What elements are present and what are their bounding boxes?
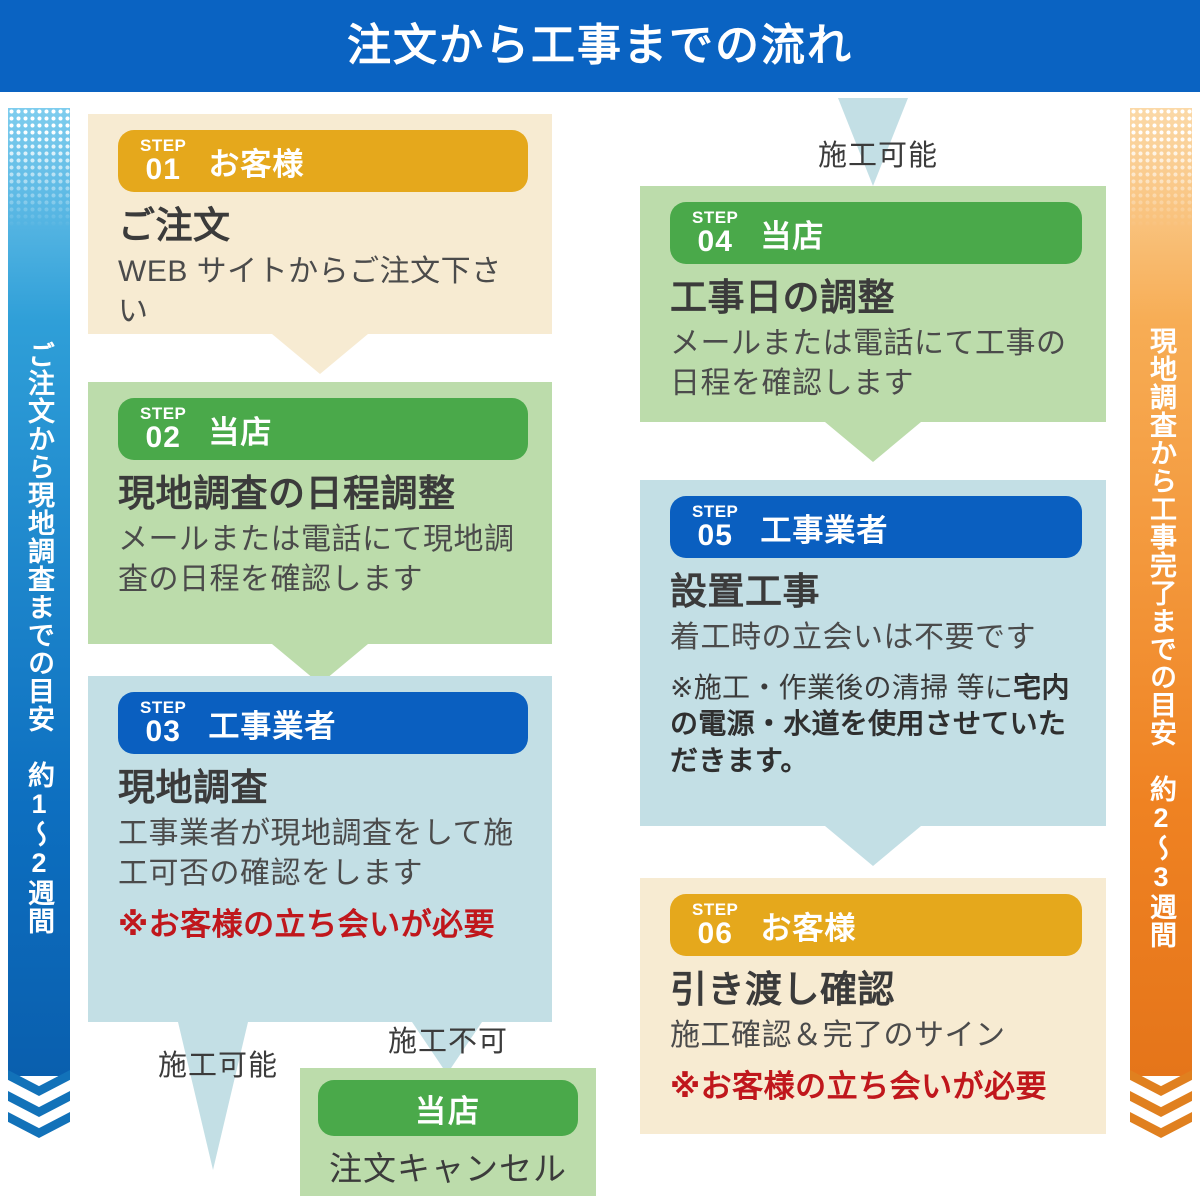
left-rail-label: ご注文から現地調査までの目安 約1〜2週間	[8, 238, 70, 1038]
order-cancel-card: 当店 注文キャンセル	[300, 1068, 596, 1196]
step-title: 引き渡し確認	[670, 968, 1082, 1012]
step-number: 05	[698, 521, 733, 551]
left-rail-halftone-icon	[8, 108, 70, 228]
step-actor: 工事業者	[760, 505, 888, 550]
step-card-05: STEP 05 工事業者 設置工事 着工時の立会いは不要です ※施工・作業後の清…	[640, 480, 1106, 826]
flow-arrow-04-to-05	[825, 422, 921, 462]
step-actor: 工事業者	[208, 701, 336, 746]
cancel-label: 注文キャンセル	[318, 1142, 578, 1190]
step-card-06: STEP 06 お客様 引き渡し確認 施工確認＆完了のサイン ※お客様の立ち会い…	[640, 878, 1106, 1134]
chevron-down-icon	[1130, 1070, 1192, 1096]
right-rail-halftone-icon	[1130, 108, 1192, 228]
step-number: 06	[698, 919, 733, 949]
step-word: STEP	[140, 137, 186, 154]
step-number-block: STEP 06	[692, 901, 738, 949]
step-actor: お客様	[208, 139, 304, 184]
step-body: 工事業者が現地調査をして施工可否の確認をします	[118, 814, 528, 894]
left-rail-chevrons	[8, 1070, 70, 1138]
step-number-block: STEP 05	[692, 503, 738, 551]
step-card-01: STEP 01 お客様 ご注文 WEB サイトからご注文下さい	[88, 114, 552, 334]
step-number-block: STEP 02	[140, 405, 186, 453]
step-number-block: STEP 01	[140, 137, 186, 185]
step-card-02: STEP 02 当店 現地調査の日程調整 メールまたは電話にて現地調査の日程を確…	[88, 382, 552, 644]
cancel-actor-badge: 当店	[318, 1080, 578, 1136]
right-rail-chevrons	[1130, 1070, 1192, 1138]
step-note-plain: ※施工・作業後の清掃 等に	[670, 672, 1013, 703]
step-badge-02: STEP 02 当店	[118, 398, 528, 460]
step-word: STEP	[140, 405, 186, 422]
chevron-down-icon	[8, 1070, 70, 1096]
step-badge-06: STEP 06 お客様	[670, 894, 1082, 956]
step-actor: 当店	[760, 211, 824, 256]
step-badge-05: STEP 05 工事業者	[670, 496, 1082, 558]
step-note: ※施工・作業後の清掃 等に宅内の電源・水道を使用させていただきます。	[670, 670, 1082, 779]
step-warning: ※お客様の立ち会いが必要	[118, 906, 528, 943]
step-body: 着工時の立会いは不要です	[670, 618, 1082, 658]
step-title: ご注文	[118, 204, 528, 248]
step-card-03: STEP 03 工事業者 現地調査 工事業者が現地調査をして施工可否の確認をしま…	[88, 676, 552, 1022]
step-number: 04	[698, 227, 733, 257]
page-header: 注文から工事までの流れ	[0, 0, 1200, 92]
left-timeline-rail: ご注文から現地調査までの目安 約1〜2週間	[8, 108, 70, 1130]
step-card-04: STEP 04 当店 工事日の調整 メールまたは電話にて工事の日程を確認します	[640, 186, 1106, 422]
flow-diagram-page: 注文から工事までの流れ ご注文から現地調査までの目安 約1〜2週間 現地調査から…	[0, 0, 1200, 1200]
branch-label-construction-not-possible: 施工不可	[388, 1018, 508, 1060]
branch-label-construction-possible: 施工可能	[158, 1042, 278, 1084]
right-rail-label: 現地調査から工事完了までの目安 約2〜3週間	[1130, 238, 1192, 1038]
step-actor: お客様	[760, 903, 856, 948]
step-word: STEP	[692, 209, 738, 226]
step-number: 02	[146, 423, 181, 453]
step-word: STEP	[692, 901, 738, 918]
step-word: STEP	[140, 699, 186, 716]
step-body: WEB サイトからご注文下さい	[118, 252, 528, 332]
step-warning: ※お客様の立ち会いが必要	[670, 1068, 1082, 1105]
step-title: 現地調査の日程調整	[118, 472, 528, 516]
step-title: 設置工事	[670, 570, 1082, 614]
step-number-block: STEP 04	[692, 209, 738, 257]
page-title: 注文から工事までの流れ	[347, 24, 853, 68]
step-word: STEP	[692, 503, 738, 520]
step-number: 01	[146, 155, 181, 185]
branch-label-construction-possible-top: 施工可能	[818, 132, 938, 174]
step-title: 現地調査	[118, 766, 528, 810]
step-title: 工事日の調整	[670, 276, 1082, 320]
step-number-block: STEP 03	[140, 699, 186, 747]
step-badge-03: STEP 03 工事業者	[118, 692, 528, 754]
right-timeline-rail: 現地調査から工事完了までの目安 約2〜3週間	[1130, 108, 1192, 1130]
step-body: 施工確認＆完了のサイン	[670, 1016, 1082, 1056]
step-body: メールまたは電話にて工事の日程を確認します	[670, 324, 1082, 404]
flow-arrow-01-to-02	[272, 334, 368, 374]
flow-arrow-05-to-06	[825, 826, 921, 866]
step-body: メールまたは電話にて現地調査の日程を確認します	[118, 520, 528, 600]
step-badge-01: STEP 01 お客様	[118, 130, 528, 192]
step-badge-04: STEP 04 当店	[670, 202, 1082, 264]
step-number: 03	[146, 717, 181, 747]
step-actor: 当店	[208, 407, 272, 452]
